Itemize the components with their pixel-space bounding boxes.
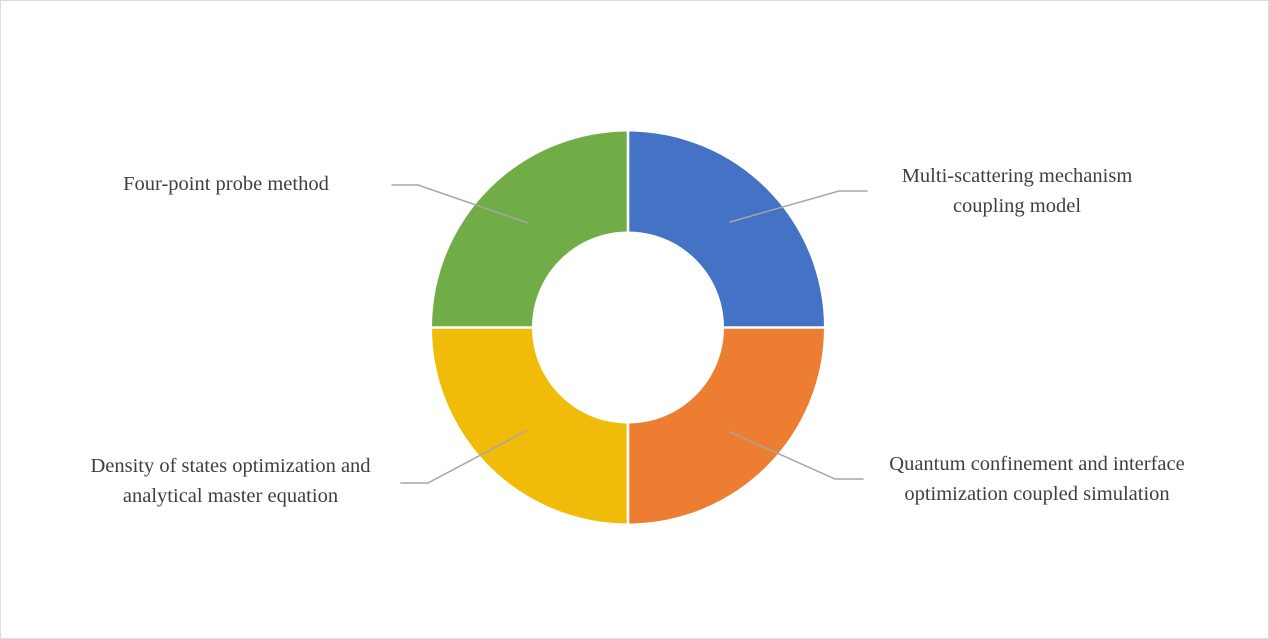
slice-label-four-point-probe-method: Four-point probe method <box>46 169 406 199</box>
slice-quantum-confinement-and-interface-optimization-coupled-simulation[interactable] <box>628 328 824 524</box>
slice-label-multi-scattering-mechanism-coupling-model: Multi-scattering mechanism coupling mode… <box>847 161 1187 221</box>
slice-label-quantum-confinement-and-interface-optimization-coupled-simulation: Quantum confinement and interface optimi… <box>847 449 1227 509</box>
slice-multi-scattering-mechanism-coupling-model[interactable] <box>628 132 824 328</box>
chart-canvas: Multi-scattering mechanism coupling mode… <box>0 0 1269 639</box>
slice-label-density-of-states-optimization-and-analytical-master-equation: Density of states optimization and analy… <box>43 451 418 511</box>
slice-four-point-probe-method[interactable] <box>432 132 628 328</box>
doughnut-chart <box>1 1 1269 639</box>
slice-density-of-states-optimization-and-analytical-master-equation[interactable] <box>432 328 628 524</box>
